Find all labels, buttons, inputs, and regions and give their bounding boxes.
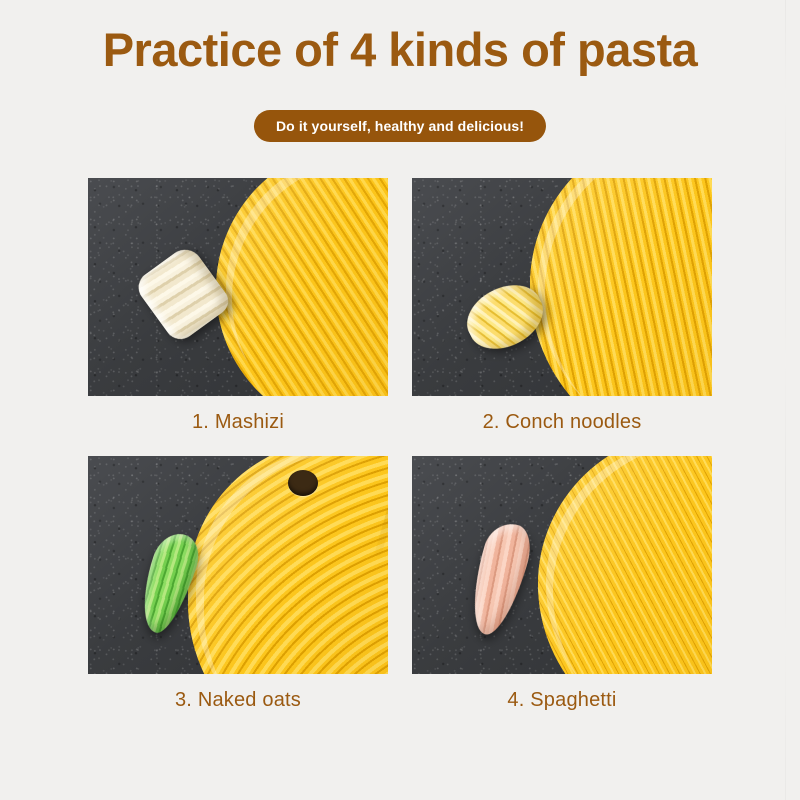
capture-edge-artifact bbox=[785, 0, 786, 800]
ridged-board-3 bbox=[188, 456, 388, 674]
pasta-photo-4 bbox=[412, 456, 712, 674]
ridged-board-2 bbox=[530, 178, 712, 396]
gallery-item-1[interactable]: 1. Mashizi bbox=[88, 178, 388, 434]
pasta-photo-1 bbox=[88, 178, 388, 396]
ridged-board-1 bbox=[216, 178, 388, 396]
pasta-photo-2 bbox=[412, 178, 712, 396]
pasta-gallery: 1. Mashizi 2. Conch noodles bbox=[88, 178, 712, 712]
page-title: Practice of 4 kinds of pasta bbox=[0, 22, 800, 78]
board-ridges-4 bbox=[538, 456, 712, 674]
board-ridges-3 bbox=[188, 456, 388, 674]
subtitle-badge: Do it yourself, healthy and delicious! bbox=[254, 110, 546, 142]
board-ridges-2 bbox=[530, 178, 712, 396]
pasta-caption-3: 3. Naked oats bbox=[88, 688, 388, 712]
pasta-caption-4: 4. Spaghetti bbox=[412, 688, 712, 712]
pasta-photo-3 bbox=[88, 456, 388, 674]
subtitle-badge-label: Do it yourself, healthy and delicious! bbox=[276, 118, 524, 134]
gallery-item-3[interactable]: 3. Naked oats bbox=[88, 456, 388, 712]
gallery-item-2[interactable]: 2. Conch noodles bbox=[412, 178, 712, 434]
ridged-board-4 bbox=[538, 456, 712, 674]
pasta-caption-1: 1. Mashizi bbox=[88, 410, 388, 434]
board-ridges-1 bbox=[216, 178, 388, 396]
pasta-caption-2: 2. Conch noodles bbox=[412, 410, 712, 434]
board-hanging-hole-icon bbox=[288, 470, 318, 496]
gallery-item-4[interactable]: 4. Spaghetti bbox=[412, 456, 712, 712]
